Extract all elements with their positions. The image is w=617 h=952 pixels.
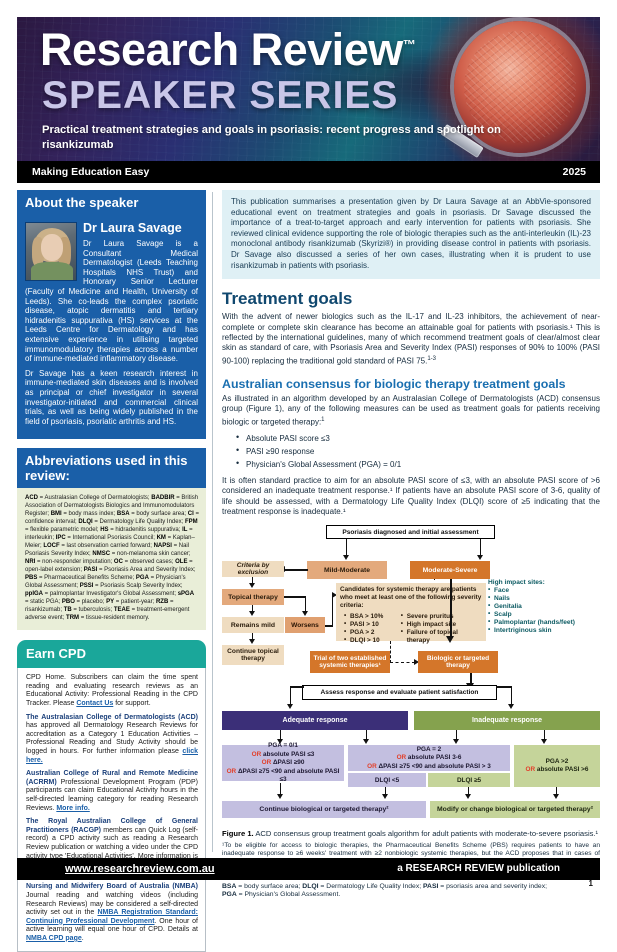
about-speaker-body: Dr Laura Savage Dr Laura Savage is a Con… [17, 215, 206, 439]
speaker-avatar [25, 222, 77, 281]
abbreviation-term: PSSI [80, 583, 94, 589]
flow-node-trial-two-systemic: Trial of two established systemic therap… [310, 651, 390, 673]
high-impact-site-item: Scalp [488, 611, 600, 619]
treatment-goals-text: With the advent of newer biologics such … [222, 312, 600, 365]
abbreviation-def: = tissue-resident memory. [79, 615, 149, 621]
abbreviation-term: OLE [175, 559, 187, 565]
abbreviation-term: KM [157, 535, 166, 541]
abbreviation-term: LOCF [43, 543, 59, 549]
flow-node-assess-response: Assess response and evaluate patient sat… [302, 685, 497, 700]
abbreviation-term: IPC [56, 535, 66, 541]
treatment-goals-paragraph: With the advent of newer biologics such … [222, 312, 600, 367]
about-speaker-heading: About the speaker [17, 190, 206, 215]
treatment-goal-item: Absolute PASI score ≤3 [236, 432, 600, 445]
flow-node-criteria-exclusion: Criteria by exclusion [222, 561, 284, 577]
abbreviation-term: sPGA [178, 591, 194, 597]
abbreviations-heading: Abbreviations used in this review: [17, 448, 206, 488]
candidates-criteria-left-list: BSA > 10%PASI > 10PGA > 2DLQI > 10 [344, 613, 401, 645]
cpd-paragraph-1: CPD Home. Subscribers can claim the time… [26, 674, 198, 708]
abbreviation-term: NMSC [92, 551, 110, 557]
nmba-cpd-link[interactable]: NMBA CPD page [26, 935, 82, 942]
main-content: This publication summarises a presentati… [222, 190, 600, 899]
more-info-link[interactable]: More info. [56, 805, 89, 812]
consensus-text: As illustrated in an algorithm developed… [222, 394, 600, 426]
abbreviation-def: = tuberculosis; [72, 607, 113, 613]
cpd-paragraph-3: Australian College of Rural and Remote M… [26, 770, 198, 813]
flow-node-mild-moderate: Mild-Moderate [307, 561, 387, 579]
sidebar: About the speaker Dr Laura Savage Dr Lau… [17, 190, 206, 952]
cpd-paragraph-2: The Australasian College of Dermatologis… [26, 714, 198, 766]
mid-detail-line-2: OR absolute PASI 3-6 [397, 754, 462, 762]
abbreviation-term: BADBIR [151, 495, 174, 501]
abbreviation-term: BSA [117, 511, 130, 517]
consensus-paragraph: As illustrated in an algorithm developed… [222, 394, 600, 428]
standard-practice-paragraph: It is often standard practice to aim for… [222, 476, 600, 518]
abbreviation-term: PY [106, 599, 114, 605]
abbreviation-def: = Australasian College of Dermatologists… [38, 495, 150, 501]
criteria-item: High impact site [401, 621, 482, 629]
abbreviation-term: OC [114, 559, 123, 565]
abbreviation-def: = placebo; [75, 599, 106, 605]
abbreviation-def: = body surface area; [130, 511, 187, 517]
flow-node-continue-topical: Continue topical therapy [222, 645, 284, 665]
flow-node-worsens: Worsens [285, 617, 325, 633]
candidates-criteria-heading: Candidates for systemic therapy are pati… [340, 586, 482, 609]
mid-detail-line-3: OR ΔPASI ≥75 <90 and absolute PASI > 3 [367, 763, 491, 771]
speaker-bio-paragraph-2: Dr Savage has a keen research interest i… [25, 369, 198, 427]
earn-cpd-body: CPD Home. Subscribers can claim the time… [17, 668, 206, 951]
website-link[interactable]: www.researchreview.com.au [65, 863, 215, 875]
high-impact-sites-heading: High impact sites: [488, 579, 600, 586]
header-banner: Research Review™ SPEAKER SERIES Practica… [17, 17, 600, 169]
flow-node-initial: Psoriasis diagnosed and initial assessme… [326, 525, 495, 539]
abbreviation-term: RZB [156, 599, 168, 605]
criteria-item: BSA > 10% [344, 613, 401, 621]
brand-title: Research Review™ [40, 24, 415, 76]
criteria-item: Failure of topical therapy [401, 629, 482, 645]
earn-cpd-heading: Earn CPD [17, 640, 206, 668]
abbreviation-term: FPM [185, 519, 198, 525]
criteria-item: PGA > 2 [344, 629, 401, 637]
cpd-paragraph-5: Nursing and Midwifery Board of Australia… [26, 883, 198, 943]
criteria-item: PASI > 10 [344, 621, 401, 629]
flow-node-modify-biologic: Modify or change biological or targeted … [430, 801, 600, 818]
abbreviation-def: = palmoplantar Investigator's Global Ass… [43, 591, 176, 597]
abbreviations-box: ACD = Australasian College of Dermatolog… [17, 488, 206, 630]
abbreviation-def: = non-melanoma skin cancer; [110, 551, 191, 557]
high-impact-site-item: Genitalia [488, 603, 600, 611]
figure-1-flowchart: Psoriasis diagnosed and initial assessme… [222, 525, 600, 825]
ref-sup-2: 1 [321, 417, 324, 423]
def-pga: PGA [222, 891, 237, 898]
abbreviation-def: = Psoriasis Scalp Severity Index; [93, 583, 182, 589]
flow-node-topical-therapy: Topical therapy [222, 589, 284, 605]
tagline-text: Making Education Easy [32, 166, 149, 178]
flow-node-moderate-severe: Moderate-Severe [410, 561, 490, 579]
treatment-goal-item: PASI ≥90 response [236, 445, 600, 458]
adequate-detail-line-1: PGA = 0/1 [268, 742, 298, 750]
treatment-goals-list: Absolute PASI score ≤3PASI ≥90 responseP… [236, 432, 600, 471]
trademark-symbol: ™ [403, 37, 416, 52]
def-dlqi: DLQI [302, 883, 318, 890]
abbreviation-term: HS [100, 527, 108, 533]
nmba-standard-link[interactable]: NMBA Registration Standard: Continuing P… [26, 909, 198, 925]
abbreviation-term: BMI [51, 511, 62, 517]
ref-sup-1: 1-3 [427, 356, 436, 362]
flow-node-inadequate-detail: PGA >2 OR absolute PASI >6 [514, 745, 600, 787]
abbreviation-def: = non-responder imputation; [35, 559, 112, 565]
flow-node-adequate-detail: PGA = 0/1 OR absolute PASI ≤3 OR ΔPASI ≥… [222, 745, 344, 781]
abbreviation-term: PASI [84, 567, 98, 573]
abbreviation-def: = flexible parametric model; [25, 527, 100, 533]
contact-us-link[interactable]: Contact Us [76, 700, 113, 707]
high-impact-site-item: Face [488, 587, 600, 595]
flow-node-remains-mild: Remains mild [222, 617, 284, 633]
figure-caption-label: Figure 1. [222, 829, 254, 838]
flow-node-candidates-criteria: Candidates for systemic therapy are pati… [336, 583, 486, 641]
figure-caption-text: ACD consensus group treatment goals algo… [254, 829, 598, 838]
abbreviation-term: ACD [25, 495, 38, 501]
abbreviation-term: TEAE [114, 607, 130, 613]
flow-node-adequate-response: Adequate response [222, 711, 408, 730]
abbreviation-term: DLQI [78, 519, 92, 525]
publication-label: a RESEARCH REVIEW publication [397, 863, 560, 874]
abbreviation-def: = Dermatology Life Quality Index; [93, 519, 184, 525]
treatment-goal-item: Physician's Global Assessment (PGA) = 0/… [236, 458, 600, 471]
page-number: 1 [589, 879, 593, 888]
inadequate-detail-line-1: PGA >2 [546, 758, 569, 766]
tagline-bar: Making Education Easy 2025 [17, 161, 600, 183]
criteria-item: Severe pruritus [401, 613, 482, 621]
flow-node-dlqi-ge5: DLQI ≥5 [428, 773, 510, 787]
year-text: 2025 [563, 166, 586, 178]
abbreviation-term: ppIGA [25, 591, 43, 597]
banner-description: Practical treatment strategies and goals… [42, 123, 550, 152]
flow-node-mid-detail: PGA = 2 OR absolute PASI 3-6 OR ΔPASI ≥7… [348, 745, 510, 771]
abbreviation-def: = body mass index; [62, 511, 117, 517]
abbreviation-def: = observed cases; [123, 559, 175, 565]
click-here-link[interactable]: click here. [26, 748, 198, 764]
abbreviation-def: = patient-year; [114, 599, 154, 605]
consensus-heading: Australian consensus for biologic therap… [222, 377, 600, 391]
abbreviation-def: = International Psoriasis Council; [66, 535, 155, 541]
adequate-detail-line-4: OR ΔPASI ≥75 <90 and absolute PASI ≤3 [224, 768, 342, 785]
abbreviation-term: TB [64, 607, 72, 613]
abbreviation-term: PGA [136, 575, 149, 581]
abbreviation-term: NRI [25, 559, 35, 565]
adequate-detail-line-3: OR ΔPASI ≥90 [262, 759, 305, 767]
criteria-item: DLQI > 10 [344, 637, 401, 645]
figure-caption: Figure 1. ACD consensus group treatment … [222, 829, 600, 838]
abbreviation-def: = Pharmaceutical Benefits Scheme; [37, 575, 134, 581]
high-impact-site-item: Intertriginous skin [488, 627, 600, 635]
brand-subtitle: SPEAKER SERIES [42, 74, 398, 118]
flow-node-dlqi-lt5: DLQI <5 [348, 773, 426, 787]
summary-box: This publication summarises a presentati… [222, 190, 600, 279]
def-pasi: PASI [423, 883, 438, 890]
abbreviation-def: = last observation carried forward; [60, 543, 152, 549]
flow-node-continue-biologic: Continue biological or targeted therapy² [222, 801, 426, 818]
column-divider [212, 192, 213, 852]
abbreviation-def: = Psoriasis Area and Severity Index; [97, 567, 195, 573]
page-footer: www.researchreview.com.au a RESEARCH REV… [17, 858, 600, 880]
flow-node-inadequate-response: Inadequate response [414, 711, 600, 730]
abbreviation-def: = hidradenitis suppurativa; [109, 527, 181, 533]
high-impact-site-item: Nails [488, 595, 600, 603]
mid-detail-line-1: PGA = 2 [417, 746, 441, 754]
abbreviations-list: ACD = Australasian College of Dermatolog… [25, 494, 199, 622]
abbreviation-term: NAPSI [154, 543, 172, 549]
inadequate-detail-line-2: OR absolute PASI >6 [526, 766, 589, 774]
abbreviation-term: PBO [62, 599, 75, 605]
brand-title-text: Research Review [40, 24, 403, 75]
high-impact-sites: High impact sites: FaceNailsGenitaliaSca… [488, 579, 600, 634]
high-impact-site-item: Palmoplantar (hands/feet) [488, 619, 600, 627]
abbreviation-term: TRM [66, 615, 79, 621]
adequate-detail-line-2: OR absolute PASI ≤3 [252, 751, 315, 759]
def-bsa: BSA [222, 883, 236, 890]
high-impact-sites-list: FaceNailsGenitaliaScalpPalmoplantar (han… [488, 587, 600, 634]
flow-node-biologic-targeted: Biologic or targeted therapy [418, 651, 498, 673]
candidates-criteria-right-list: Severe pruritusHigh impact siteFailure o… [401, 613, 482, 645]
abbreviation-term: PBS [25, 575, 37, 581]
abbreviation-def: = static PGA; [25, 599, 62, 605]
treatment-goals-heading: Treatment goals [222, 289, 600, 309]
